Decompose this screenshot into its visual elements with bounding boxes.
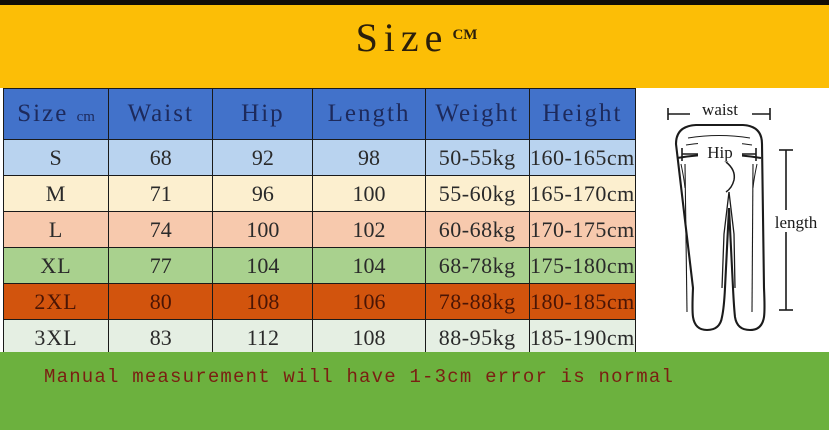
column-header-waist: Waist xyxy=(109,89,213,140)
title-wrapper: SizeCM xyxy=(0,13,829,63)
cell-hip: 96 xyxy=(213,176,313,212)
table-row: XL 77 104 104 68-78kg 175-180cm xyxy=(4,248,636,284)
cell-waist: 68 xyxy=(109,140,213,176)
cell-height: 185-190cm xyxy=(529,320,635,356)
cell-waist: 77 xyxy=(109,248,213,284)
measurement-disclaimer: Manual measurement will have 1-3cm error… xyxy=(44,366,674,388)
cell-weight: 68-78kg xyxy=(425,248,529,284)
cell-waist: 74 xyxy=(109,212,213,248)
cell-hip: 108 xyxy=(213,284,313,320)
cell-weight: 55-60kg xyxy=(425,176,529,212)
footer-banner: Manual measurement will have 1-3cm error… xyxy=(0,352,829,430)
cell-length: 108 xyxy=(313,320,425,356)
cell-height: 175-180cm xyxy=(529,248,635,284)
table-row: 3XL 83 112 108 88-95kg 185-190cm xyxy=(4,320,636,356)
cell-size: L xyxy=(4,212,109,248)
column-header-size: Size cm xyxy=(4,89,109,140)
cell-weight: 50-55kg xyxy=(425,140,529,176)
table-row: S 68 92 98 50-55kg 160-165cm xyxy=(4,140,636,176)
cell-length: 104 xyxy=(313,248,425,284)
length-label: length xyxy=(775,213,818,232)
cell-size: M xyxy=(4,176,109,212)
cell-hip: 112 xyxy=(213,320,313,356)
pants-measurement-diagram: waist xyxy=(640,88,826,350)
cell-size: 2XL xyxy=(4,284,109,320)
cell-weight: 78-88kg xyxy=(425,284,529,320)
cell-weight: 88-95kg xyxy=(425,320,529,356)
cell-size: S xyxy=(4,140,109,176)
column-header-height: Height xyxy=(529,89,635,140)
size-table: Size cm Waist Hip Length Weight Height S… xyxy=(3,88,636,356)
cell-length: 98 xyxy=(313,140,425,176)
table-header: Size cm Waist Hip Length Weight Height xyxy=(4,89,636,140)
table-row: M 71 96 100 55-60kg 165-170cm xyxy=(4,176,636,212)
cell-waist: 71 xyxy=(109,176,213,212)
table-body: S 68 92 98 50-55kg 160-165cm M 71 96 100… xyxy=(4,140,636,356)
cell-hip: 100 xyxy=(213,212,313,248)
column-header-hip: Hip xyxy=(213,89,313,140)
cell-length: 100 xyxy=(313,176,425,212)
cell-hip: 104 xyxy=(213,248,313,284)
column-header-length: Length xyxy=(313,89,425,140)
cell-weight: 60-68kg xyxy=(425,212,529,248)
waist-label: waist xyxy=(702,100,738,119)
page-title: Size xyxy=(356,15,449,60)
cell-size: 3XL xyxy=(4,320,109,356)
cell-length: 106 xyxy=(313,284,425,320)
cell-height: 180-185cm xyxy=(529,284,635,320)
size-chart-page: SizeCM Size cm Waist Hip Length Weight H… xyxy=(0,0,829,430)
title-unit-superscript: CM xyxy=(452,27,477,43)
hip-label: Hip xyxy=(707,143,733,162)
column-header-size-label: Size xyxy=(17,100,68,127)
cell-waist: 80 xyxy=(109,284,213,320)
table-row-highlighted: 2XL 80 108 106 78-88kg 180-185cm xyxy=(4,284,636,320)
table-row: L 74 100 102 60-68kg 170-175cm xyxy=(4,212,636,248)
cell-waist: 83 xyxy=(109,320,213,356)
title-banner: SizeCM xyxy=(0,5,829,88)
cell-size: XL xyxy=(4,248,109,284)
cell-height: 160-165cm xyxy=(529,140,635,176)
cell-height: 165-170cm xyxy=(529,176,635,212)
cell-length: 102 xyxy=(313,212,425,248)
cell-hip: 92 xyxy=(213,140,313,176)
cell-height: 170-175cm xyxy=(529,212,635,248)
column-header-size-unit: cm xyxy=(77,109,95,125)
column-header-weight: Weight xyxy=(425,89,529,140)
table-header-row: Size cm Waist Hip Length Weight Height xyxy=(4,89,636,140)
